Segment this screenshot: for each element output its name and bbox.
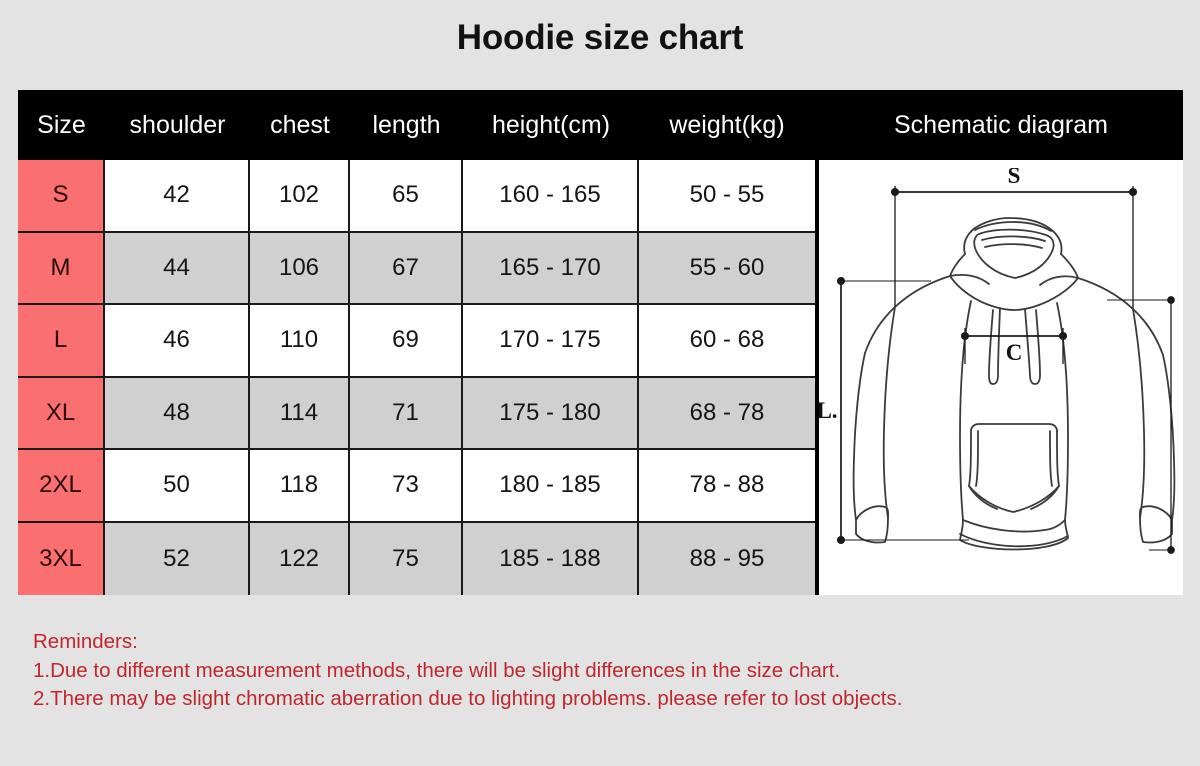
hoodie-schematic-diagram: S C L.	[819, 160, 1183, 595]
reminder-line-1: 1.Due to different measurement methods, …	[33, 657, 902, 686]
cell-chest: 118	[250, 450, 350, 521]
cell-height: 160 - 165	[463, 160, 639, 231]
column-header-height: height(cm)	[463, 111, 639, 140]
column-header-chest: chest	[250, 111, 350, 140]
table-body: S 42 102 65 160 - 165 50 - 55 M 44 106 6…	[18, 160, 815, 595]
cell-height: 170 - 175	[463, 305, 639, 376]
reminders-heading: Reminders:	[33, 628, 902, 657]
cell-length: 65	[350, 160, 463, 231]
cell-shoulder: 44	[105, 233, 250, 304]
column-header-size: Size	[18, 111, 105, 140]
schematic-section: Schematic diagram	[815, 90, 1183, 595]
size-chart-page: Hoodie size chart Size shoulder chest le…	[0, 0, 1200, 766]
cell-height: 180 - 185	[463, 450, 639, 521]
cell-chest: 106	[250, 233, 350, 304]
table-row: M 44 106 67 165 - 170 55 - 60	[18, 233, 815, 306]
cell-size: XL	[18, 378, 105, 449]
cell-chest: 114	[250, 378, 350, 449]
table-row: S 42 102 65 160 - 165 50 - 55	[18, 160, 815, 233]
cell-size: 3XL	[18, 523, 105, 596]
cell-shoulder: 42	[105, 160, 250, 231]
dimension-label-chest: C	[1006, 340, 1023, 365]
cell-length: 75	[350, 523, 463, 596]
cell-shoulder: 48	[105, 378, 250, 449]
cell-chest: 110	[250, 305, 350, 376]
table-row: L 46 110 69 170 - 175 60 - 68	[18, 305, 815, 378]
schematic-header: Schematic diagram	[815, 90, 1183, 160]
column-header-shoulder: shoulder	[105, 111, 250, 140]
column-header-schematic: Schematic diagram	[894, 111, 1108, 140]
dimension-label-length: L.	[819, 398, 838, 423]
cell-weight: 50 - 55	[639, 160, 815, 231]
cell-length: 73	[350, 450, 463, 521]
table-row: XL 48 114 71 175 - 180 68 - 78	[18, 378, 815, 451]
cell-shoulder: 46	[105, 305, 250, 376]
cell-size: L	[18, 305, 105, 376]
cell-weight: 78 - 88	[639, 450, 815, 521]
size-chart-table: Size shoulder chest length height(cm) we…	[18, 90, 1183, 595]
cell-height: 175 - 180	[463, 378, 639, 449]
table-row: 2XL 50 118 73 180 - 185 78 - 88	[18, 450, 815, 523]
table-row: 3XL 52 122 75 185 - 188 88 - 95	[18, 523, 815, 596]
reminder-line-2: 2.There may be slight chromatic aberrati…	[33, 685, 902, 714]
table-header-row: Size shoulder chest length height(cm) we…	[18, 90, 815, 160]
cell-weight: 60 - 68	[639, 305, 815, 376]
cell-shoulder: 52	[105, 523, 250, 596]
cell-length: 71	[350, 378, 463, 449]
cell-height: 165 - 170	[463, 233, 639, 304]
cell-chest: 122	[250, 523, 350, 596]
cell-shoulder: 50	[105, 450, 250, 521]
hoodie-line-drawing-icon: S C L.	[819, 168, 1183, 588]
column-header-length: length	[350, 111, 463, 140]
dimension-label-shoulder: S	[1008, 168, 1021, 188]
measurements-section: Size shoulder chest length height(cm) we…	[18, 90, 815, 595]
column-header-weight: weight(kg)	[639, 111, 815, 140]
cell-weight: 68 - 78	[639, 378, 815, 449]
cell-weight: 88 - 95	[639, 523, 815, 596]
cell-size: 2XL	[18, 450, 105, 521]
page-title: Hoodie size chart	[0, 18, 1200, 58]
cell-chest: 102	[250, 160, 350, 231]
cell-size: S	[18, 160, 105, 231]
reminders-block: Reminders: 1.Due to different measuremen…	[33, 628, 902, 714]
cell-size: M	[18, 233, 105, 304]
cell-length: 69	[350, 305, 463, 376]
cell-length: 67	[350, 233, 463, 304]
cell-height: 185 - 188	[463, 523, 639, 596]
cell-weight: 55 - 60	[639, 233, 815, 304]
